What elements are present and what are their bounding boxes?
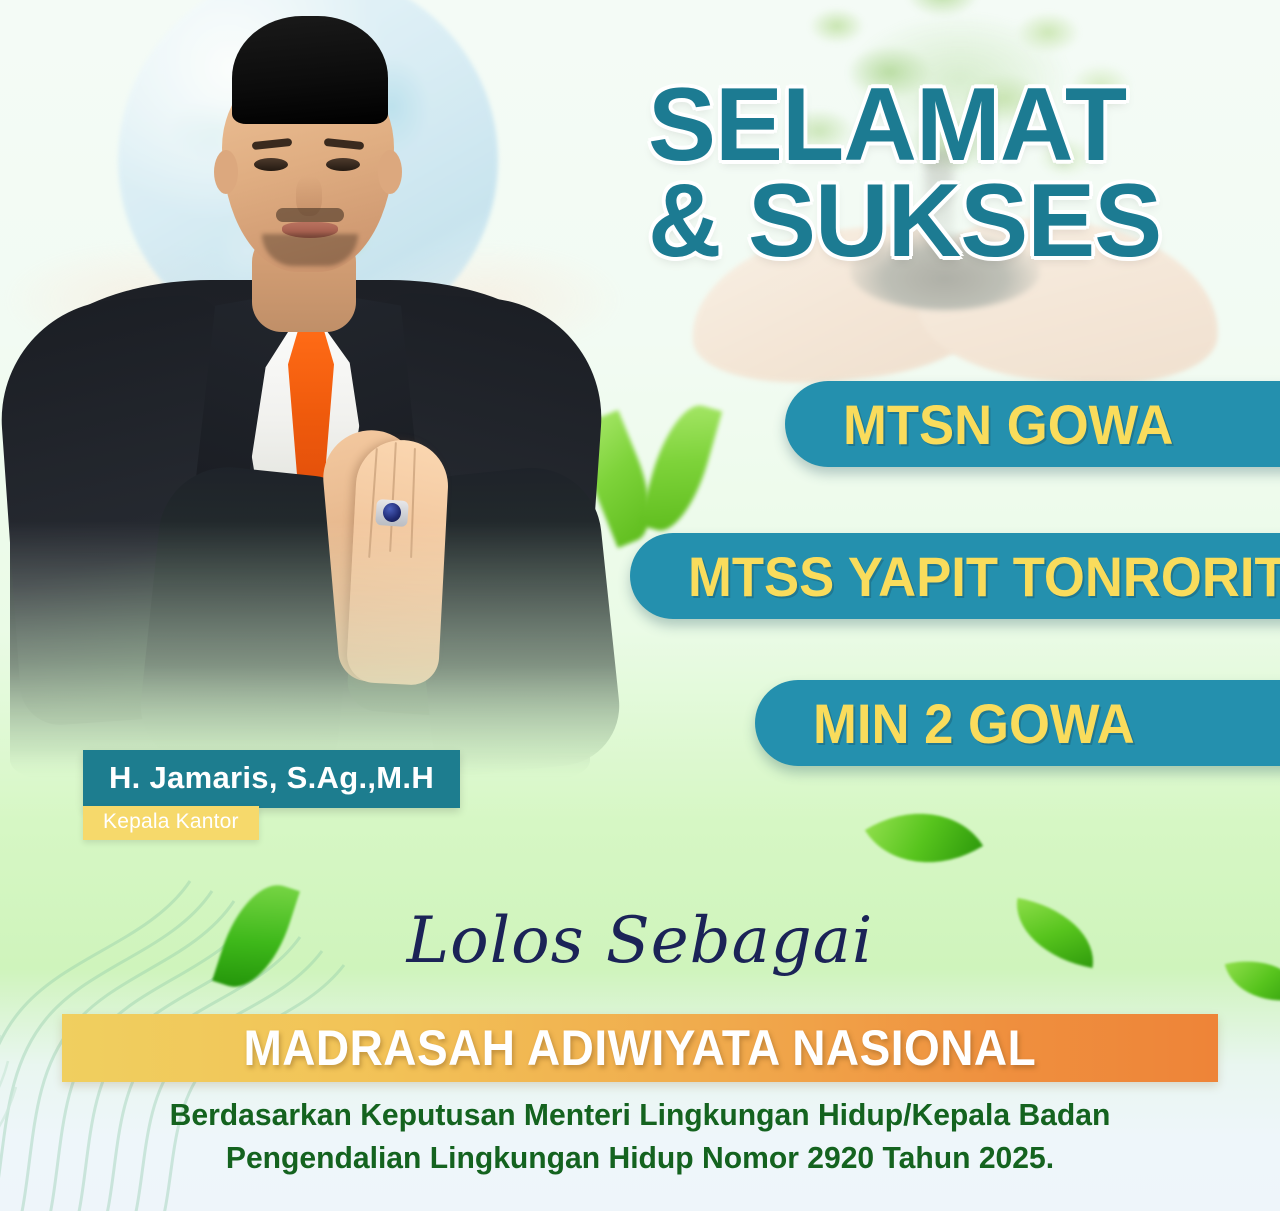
school-pill-3: MIN 2 GOWA bbox=[755, 680, 1280, 766]
praying-hand-front-shape bbox=[346, 438, 451, 686]
script-text: Lolos Sebagai bbox=[0, 904, 1280, 978]
moustache-shape bbox=[276, 208, 344, 222]
peci-cap-icon bbox=[232, 16, 388, 124]
leaf-icon bbox=[865, 781, 983, 894]
caption: Berdasarkan Keputusan Menteri Lingkungan… bbox=[77, 1094, 1202, 1180]
headline-line-1: SELAMAT bbox=[648, 78, 1236, 174]
award-title-band: MADRASAH ADIWIYATA NASIONAL bbox=[62, 1014, 1218, 1082]
award-title: MADRASAH ADIWIYATA NASIONAL bbox=[244, 1019, 1037, 1077]
sprout-icon bbox=[638, 398, 722, 539]
caption-line-1: Berdasarkan Keputusan Menteri Lingkungan… bbox=[77, 1094, 1202, 1137]
school-name-1: MTSN GOWA bbox=[843, 392, 1173, 457]
script-text-label: Lolos Sebagai bbox=[407, 904, 874, 978]
eye-right-shape bbox=[326, 158, 360, 171]
official-role: Kepala Kantor bbox=[103, 810, 239, 833]
school-name-3: MIN 2 GOWA bbox=[813, 691, 1135, 756]
eye-left-shape bbox=[254, 158, 288, 171]
headline: SELAMAT & SUKSES bbox=[648, 78, 1236, 269]
congratulations-poster: SELAMAT & SUKSES MTSN GOWA MTSS YAPIT TO… bbox=[0, 0, 1280, 1211]
school-pill-2: MTSS YAPIT TONRORITA bbox=[630, 533, 1280, 619]
school-name-2: MTSS YAPIT TONRORITA bbox=[688, 544, 1280, 609]
official-role-block: Kepala Kantor bbox=[83, 806, 259, 840]
caption-line-2: Pengendalian Lingkungan Hidup Nomor 2920… bbox=[77, 1137, 1202, 1180]
ear-left-shape bbox=[214, 150, 238, 194]
school-pill-1: MTSN GOWA bbox=[785, 381, 1280, 467]
official-name-block: H. Jamaris, S.Ag.,M.H bbox=[83, 750, 460, 808]
official-portrait bbox=[0, 0, 620, 790]
headline-line-2: & SUKSES bbox=[648, 174, 1236, 270]
ear-right-shape bbox=[378, 150, 402, 194]
official-name: H. Jamaris, S.Ag.,M.H bbox=[109, 760, 434, 795]
